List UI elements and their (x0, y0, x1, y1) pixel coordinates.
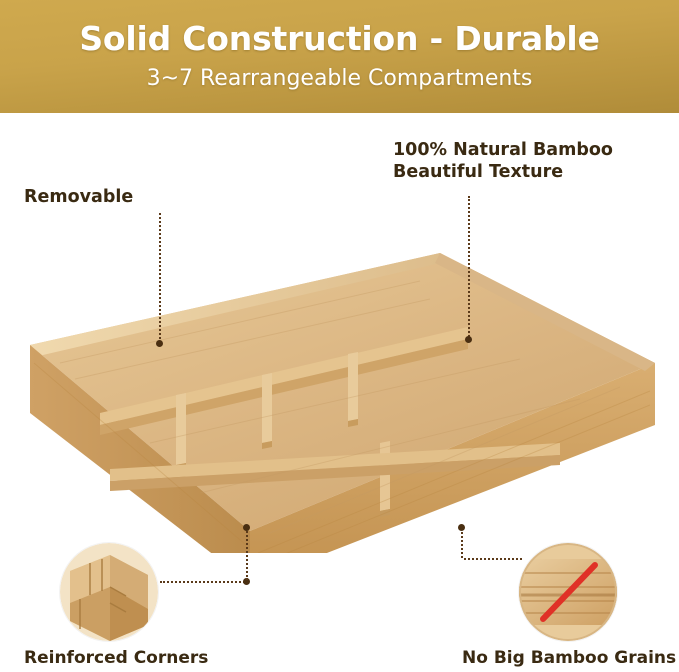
leader-line-corners-up (246, 528, 248, 580)
callout-removable: Removable (24, 187, 133, 209)
leader-endpoint-removable (156, 340, 163, 347)
inset-no-big-grains (519, 543, 617, 641)
leader-endpoint-grains (458, 524, 465, 531)
leader-line-grains-h (464, 558, 522, 560)
page-subtitle: 3~7 Rearrangeable Compartments (0, 66, 679, 91)
leader-endpoint-bamboo (465, 336, 472, 343)
callout-natural-bamboo: 100% Natural Bamboo Beautiful Texture (393, 140, 613, 184)
callout-reinforced-corners: Reinforced Corners (24, 648, 324, 669)
page-title: Solid Construction - Durable (0, 19, 679, 58)
header-banner: Solid Construction - Durable 3~7 Rearran… (0, 0, 679, 113)
product-infographic: Solid Construction - Durable 3~7 Rearran… (0, 0, 679, 672)
leader-endpoint-corners-top (243, 524, 250, 531)
inset-reinforced-corners (60, 543, 158, 641)
callout-no-big-grains: No Big Bamboo Grains (462, 648, 676, 669)
leader-line-corners (160, 581, 248, 583)
leader-line-removable (159, 213, 161, 343)
leader-line-grains (461, 528, 463, 558)
leader-line-bamboo (468, 196, 470, 341)
